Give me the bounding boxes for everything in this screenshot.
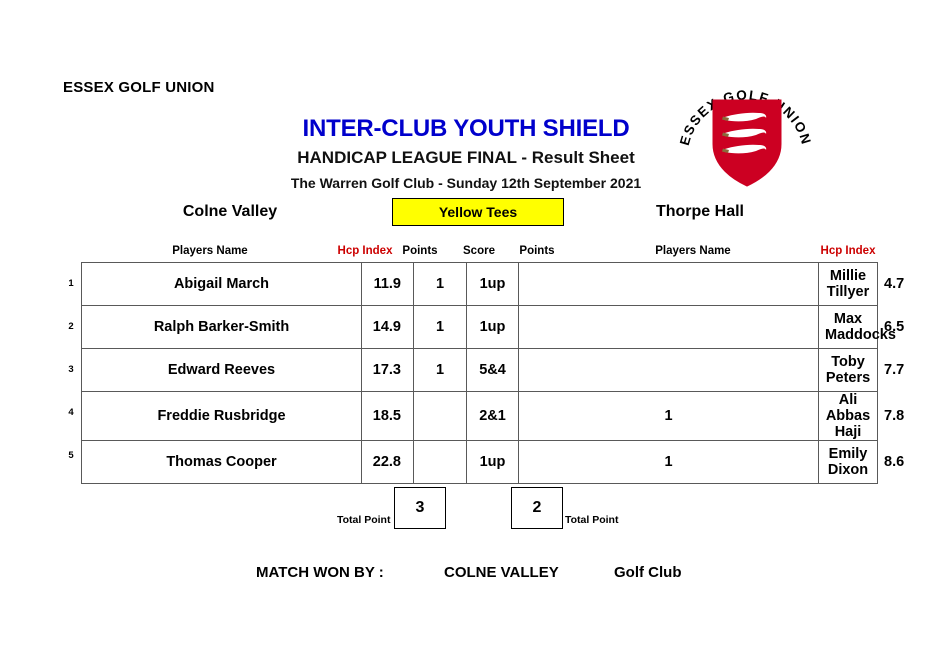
cell-home-player: Freddie Rusbridge [82,392,362,441]
table-row[interactable]: Ralph Barker-Smith 14.9 1 1up Max Maddoc… [82,306,878,349]
column-header-away-hcp-index: Hcp Index [803,245,893,257]
shield-crest-icon: ESSEX GOLF UNION [668,72,823,192]
results-table: Abigail March 11.9 1 1up Millie Tillyer … [81,262,878,484]
cell-home-hcp: 18.5 [362,392,414,441]
cell-score: 1up [467,263,519,306]
row-number: 1 [64,278,78,289]
cell-away-points [519,306,819,349]
total-point-label-away: Total Point [565,514,618,526]
cell-away-player: Millie Tillyer [819,263,878,306]
cell-home-hcp: 22.8 [362,441,414,484]
cell-away-player: Max Maddocks [819,306,878,349]
cell-score: 1up [467,306,519,349]
column-header-home-points: Points [396,245,444,257]
table-row[interactable]: Edward Reeves 17.3 1 5&4 Toby Peters 7.7 [82,349,878,392]
essex-golf-union-logo: ESSEX GOLF UNION [668,72,823,192]
cell-away-player: Emily Dixon [819,441,878,484]
match-won-by-label: MATCH WON BY : [256,564,384,581]
away-team-name: Thorpe Hall [590,203,810,221]
match-won-by-suffix: Golf Club [614,564,682,581]
total-point-label-home: Total Point [337,514,390,526]
result-sheet-page: ESSEX GOLF UNION INTER-CLUB YOUTH SHIELD… [0,0,940,664]
cell-away-points: 1 [519,441,819,484]
column-header-away-points: Points [513,245,561,257]
cell-home-points [414,392,467,441]
match-won-by-team: COLNE VALLEY [444,564,559,581]
table-row[interactable]: Thomas Cooper 22.8 1up 1 Emily Dixon 8.6 [82,441,878,484]
organisation-name: ESSEX GOLF UNION [63,79,215,96]
cell-away-points [519,263,819,306]
cell-score: 2&1 [467,392,519,441]
cell-home-points: 1 [414,306,467,349]
cell-home-player: Abigail March [82,263,362,306]
cell-away-player: Toby Peters [819,349,878,392]
cell-home-player: Ralph Barker-Smith [82,306,362,349]
row-number: 2 [64,321,78,332]
cell-away-points [519,349,819,392]
cell-home-player: Thomas Cooper [82,441,362,484]
column-header-score: Score [455,245,503,257]
cell-score: 1up [467,441,519,484]
table-row[interactable]: Freddie Rusbridge 18.5 2&1 1 Ali Abbas H… [82,392,878,441]
column-header-home-players-name: Players Name [140,245,280,257]
cell-home-points: 1 [414,349,467,392]
cell-home-hcp: 14.9 [362,306,414,349]
home-team-name: Colne Valley [120,203,340,221]
cell-home-points [414,441,467,484]
cell-score: 5&4 [467,349,519,392]
cell-away-player: Ali Abbas Haji [819,392,878,441]
row-number: 3 [64,364,78,375]
cell-home-hcp: 11.9 [362,263,414,306]
cell-away-points: 1 [519,392,819,441]
cell-home-hcp: 17.3 [362,349,414,392]
column-header-away-players-name: Players Name [623,245,763,257]
tees-badge: Yellow Tees [392,198,564,226]
cell-home-player: Edward Reeves [82,349,362,392]
row-number: 4 [64,407,78,418]
table-row[interactable]: Abigail March 11.9 1 1up Millie Tillyer … [82,263,878,306]
cell-home-points: 1 [414,263,467,306]
row-number: 5 [64,450,78,461]
total-point-value-home: 3 [394,487,446,529]
total-point-value-away: 2 [511,487,563,529]
